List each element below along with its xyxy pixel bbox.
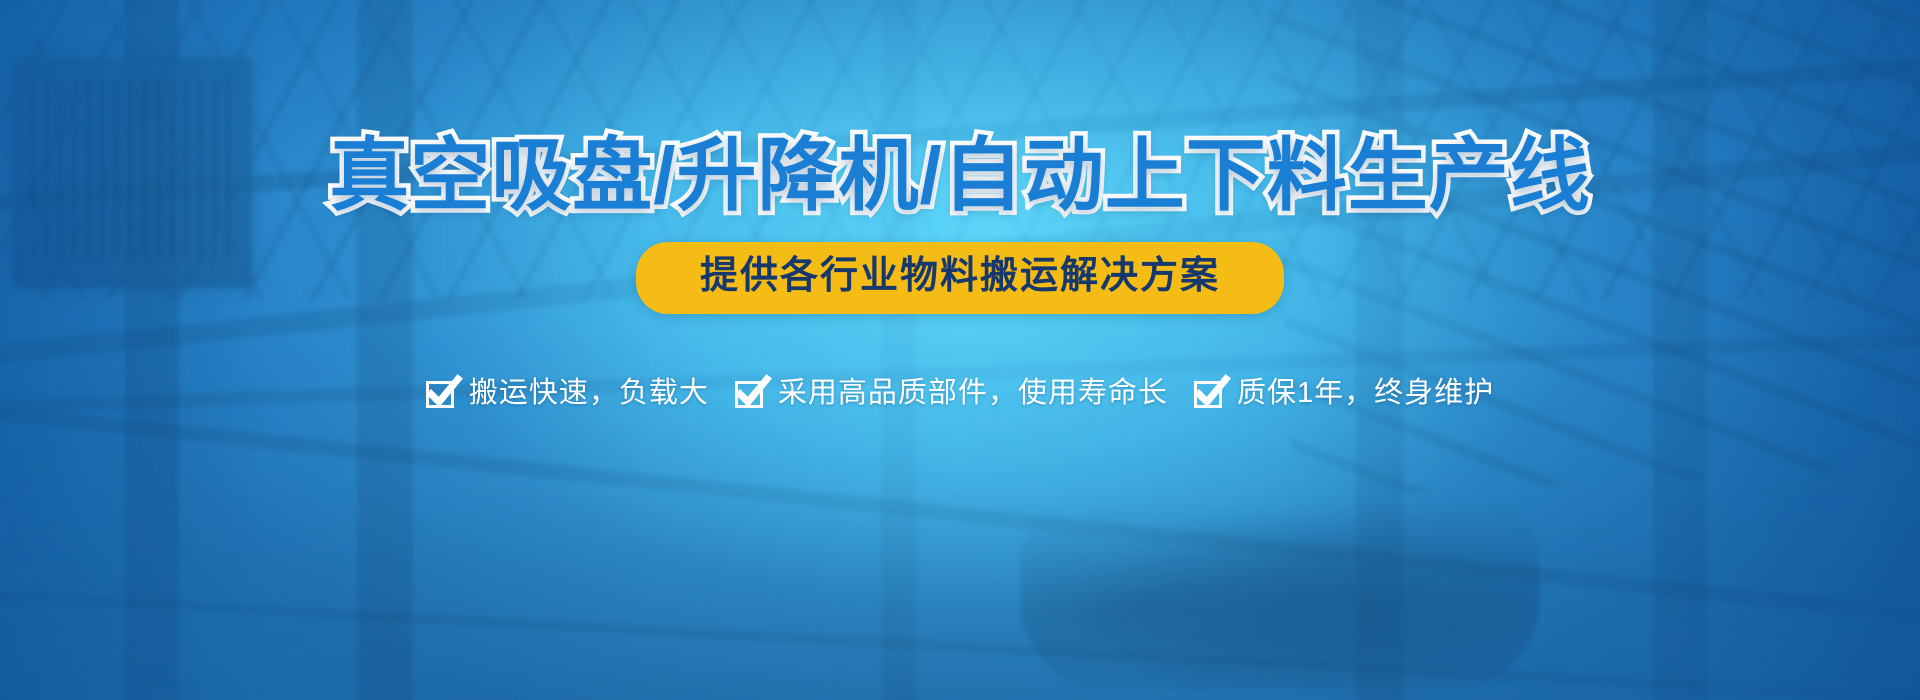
hero-banner: 真空吸盘/升降机/自动上下料生产线 提供各行业物料搬运解决方案 搬运快速，负载大 bbox=[0, 0, 1920, 700]
banner-subtitle-pill: 提供各行业物料搬运解决方案 bbox=[636, 242, 1284, 314]
feature-item: 质保1年，终身维护 bbox=[1194, 378, 1494, 408]
banner-headline: 真空吸盘/升降机/自动上下料生产线 bbox=[329, 136, 1590, 216]
check-box-icon bbox=[1194, 378, 1228, 408]
feature-item: 搬运快速，负载大 bbox=[426, 378, 709, 408]
feature-item: 采用高品质部件，使用寿命长 bbox=[735, 378, 1168, 408]
check-box-icon bbox=[426, 378, 460, 408]
feature-label: 采用高品质部件，使用寿命长 bbox=[778, 379, 1168, 408]
feature-list: 搬运快速，负载大 采用高品质部件，使用寿命长 bbox=[426, 378, 1494, 408]
feature-label: 搬运快速，负载大 bbox=[469, 379, 709, 408]
feature-label: 质保1年，终身维护 bbox=[1237, 379, 1494, 408]
check-box-icon bbox=[735, 378, 769, 408]
banner-content: 真空吸盘/升降机/自动上下料生产线 提供各行业物料搬运解决方案 搬运快速，负载大 bbox=[0, 0, 1920, 700]
